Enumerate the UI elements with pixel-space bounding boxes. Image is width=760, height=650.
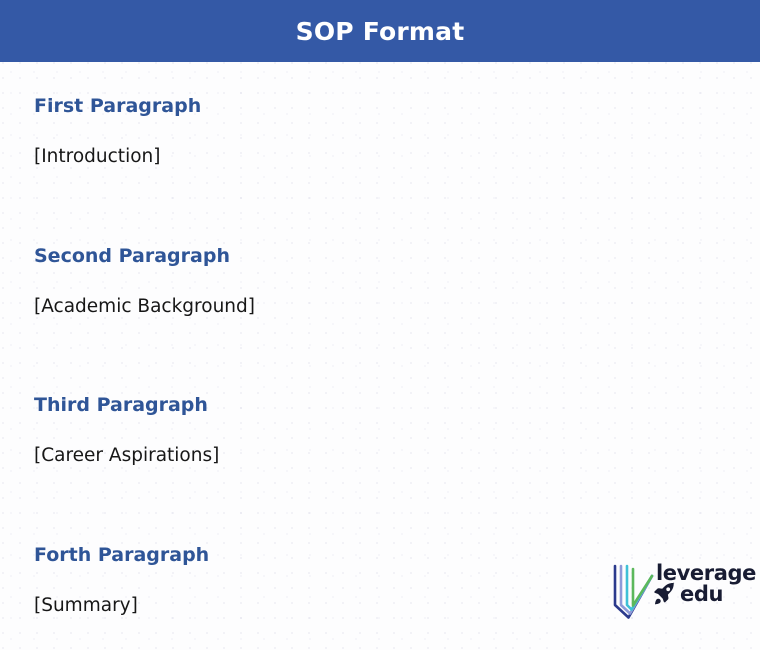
logo-text-edu: edu [656,584,748,605]
section-body: [Academic Background] [34,268,255,317]
section-heading: Second Paragraph [34,246,255,268]
section-heading: Third Paragraph [34,395,219,417]
section-heading: First Paragraph [34,96,201,118]
section-heading: Forth Paragraph [34,545,209,567]
section-second-paragraph: Second Paragraph [Academic Background] [34,246,255,317]
logo-wordmark: leverage edu [656,563,748,604]
slide-header-band: SOP Format [0,0,760,62]
section-first-paragraph: First Paragraph [Introduction] [34,96,201,167]
slide-canvas: SOP Format First Paragraph [Introduction… [0,0,760,650]
section-forth-paragraph: Forth Paragraph [Summary] [34,545,209,616]
section-body: [Career Aspirations] [34,417,219,466]
book-checkmark-icon [611,561,655,621]
leverage-edu-logo: leverage edu [611,561,746,623]
section-third-paragraph: Third Paragraph [Career Aspirations] [34,395,219,466]
logo-text-leverage: leverage [656,563,748,584]
section-body: [Summary] [34,567,209,616]
page-title: SOP Format [296,19,465,44]
section-body: [Introduction] [34,118,201,167]
